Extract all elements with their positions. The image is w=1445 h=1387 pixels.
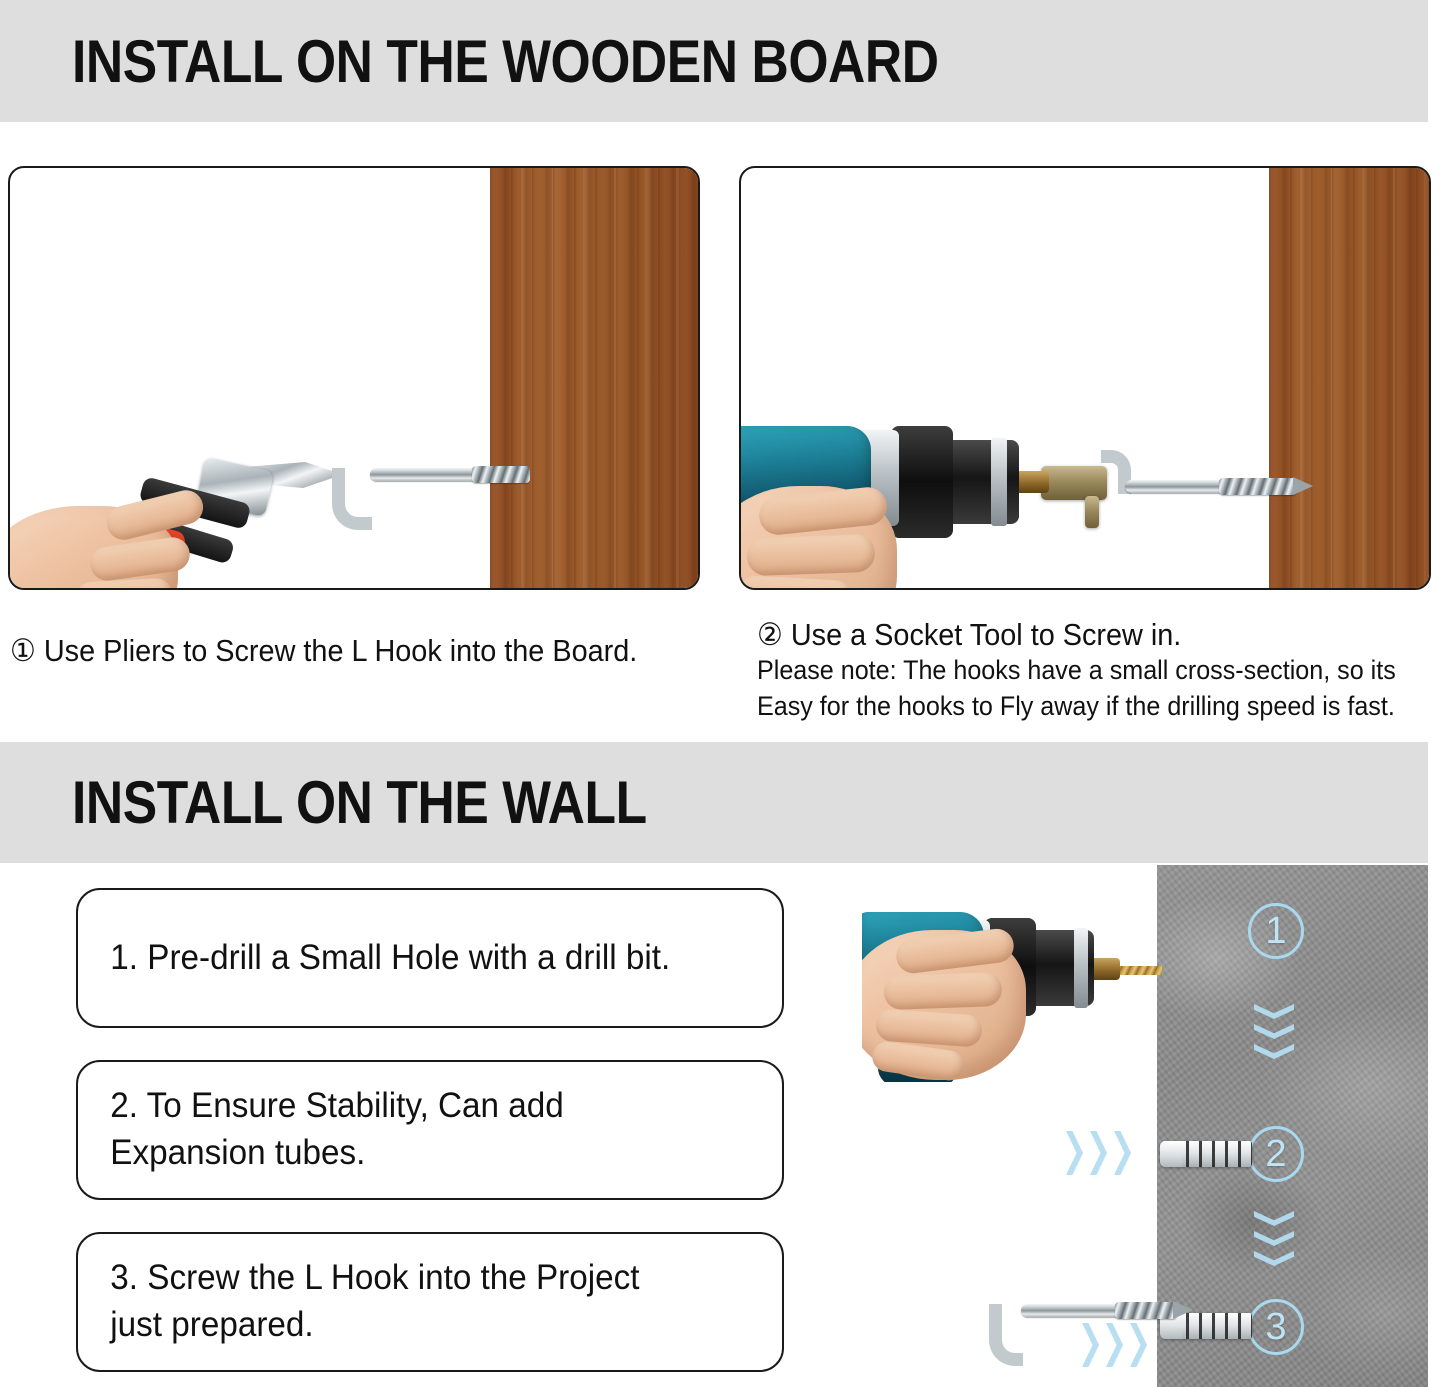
wall-drill-nose — [1090, 958, 1120, 980]
wall-finger-2 — [883, 972, 1002, 1010]
wall-drill-collar — [1074, 928, 1088, 1008]
wall-step-text-3: 3. Screw the L Hook into the Project jus… — [78, 1255, 639, 1349]
drill-collar-ring — [991, 438, 1007, 526]
pliers-photo-panel — [8, 166, 700, 590]
drill-clutch-ring — [891, 426, 953, 538]
drill-bit-icon — [1114, 966, 1162, 975]
section-header-wooden-board: INSTALL ON THE WOODEN BOARD — [0, 0, 1428, 122]
drill-finger-2 — [746, 534, 875, 576]
caption-step-2: ② Use a Socket Tool to Screw in. — [757, 617, 1181, 653]
caption-step-2-note-line-1: Please note: The hooks have a small cros… — [757, 655, 1396, 686]
chevron-down-icon-2 — [1254, 1211, 1294, 1281]
caption-step-2-note-line-2: Easy for the hooks to Fly away if the dr… — [757, 691, 1395, 722]
bottom-l-hook-assembly — [985, 1290, 1245, 1385]
socket-tool-photo-panel — [739, 166, 1431, 590]
wooden-board-graphic-2 — [1269, 168, 1429, 588]
wall-step-text-1: 1. Pre-drill a Small Hole with a drill b… — [78, 935, 670, 982]
wall-step-circle-1: 1 — [1248, 903, 1304, 959]
page-title-wooden-board: INSTALL ON THE WOODEN BOARD — [72, 27, 939, 96]
wall-step-box-2: 2. To Ensure Stability, Can add Expansio… — [76, 1060, 784, 1200]
section-header-wall: INSTALL ON THE WALL — [0, 742, 1428, 863]
wall-step-box-1: 1. Pre-drill a Small Hole with a drill b… — [76, 888, 784, 1028]
chevron-down-icon-1 — [1254, 1004, 1294, 1074]
socket-tool-adapter — [1041, 466, 1107, 500]
wall-step-circle-3: 3 — [1248, 1299, 1304, 1355]
wall-step-box-3: 3. Screw the L Hook into the Project jus… — [76, 1232, 784, 1372]
l-hook-icon-2 — [1101, 450, 1311, 520]
l-hook-icon — [332, 460, 532, 540]
expansion-tube-icon-1 — [1160, 1141, 1252, 1167]
l-hook-icon-3 — [985, 1290, 1185, 1380]
wall-step-circle-2: 2 — [1248, 1126, 1304, 1182]
wall-drill-photo — [862, 872, 1162, 1082]
chevron-right-icon-1 — [1066, 1131, 1144, 1175]
wall-step-text-2: 2. To Ensure Stability, Can add Expansio… — [78, 1083, 564, 1177]
caption-step-1: ① Use Pliers to Screw the L Hook into th… — [10, 633, 637, 669]
socket-tool-pin — [1085, 496, 1099, 528]
page-title-wall: INSTALL ON THE WALL — [72, 768, 647, 837]
